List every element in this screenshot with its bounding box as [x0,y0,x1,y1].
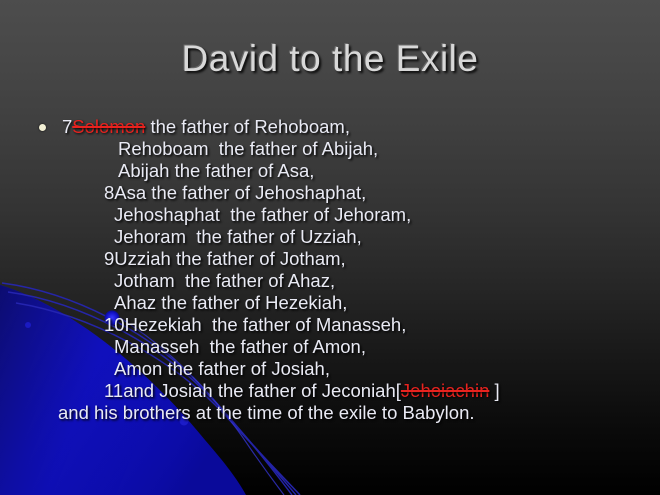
body-line: Jotham the father of Ahaz, [0,270,660,292]
body-text: Jotham the father of Ahaz, [114,270,335,291]
body-text: 8Asa the father of Jehoshaphat, [104,182,366,203]
body-text: 10Hezekiah the father of Manasseh, [104,314,406,335]
body-text: ] [489,380,499,401]
struck-name-text: Solomon [72,116,145,137]
body-text: the father of Rehoboam, [145,116,350,137]
body-text: Ahaz the father of Hezekiah, [114,292,347,313]
body-line: 11and Josiah the father of Jeconiah[Jeho… [0,380,660,402]
page-title: David to the Exile [0,38,660,80]
body-text: Jehoshaphat the father of Jehoram, [114,204,411,225]
body-line: Abijah the father of Asa, [0,160,660,182]
body-text: Amon the father of Josiah, [114,358,330,379]
body-text: 7 [62,116,72,137]
body-line: Manasseh the father of Amon, [0,336,660,358]
body-text: Abijah the father of Asa, [118,160,314,181]
body-line: 7Solomon the father of Rehoboam, [0,116,660,138]
body-line: and his brothers at the time of the exil… [0,402,660,424]
body-line: 10Hezekiah the father of Manasseh, [0,314,660,336]
body-text: 9Uzziah the father of Jotham, [104,248,346,269]
body-text: 11and Josiah the father of Jeconiah[ [104,380,401,401]
body-line: Jehoshaphat the father of Jehoram, [0,204,660,226]
body-text: Jehoram the father of Uzziah, [114,226,362,247]
body-line: Ahaz the father of Hezekiah, [0,292,660,314]
body-line: Rehoboam the father of Abijah, [0,138,660,160]
struck-name-text: Jehoiachin [401,380,489,401]
slide-body-text: 7Solomon the father of Rehoboam,Rehoboam… [0,116,660,416]
body-text: Manasseh the father of Amon, [114,336,366,357]
body-text: and his brothers at the time of the exil… [58,402,475,423]
bullet-icon [39,124,46,131]
body-line: 8Asa the father of Jehoshaphat, [0,182,660,204]
body-line: Jehoram the father of Uzziah, [0,226,660,248]
body-line: 9Uzziah the father of Jotham, [0,248,660,270]
body-line: Amon the father of Josiah, [0,358,660,380]
body-text: Rehoboam the father of Abijah, [118,138,378,159]
presentation-slide: David to the Exile 7Solomon the father o… [0,0,660,495]
